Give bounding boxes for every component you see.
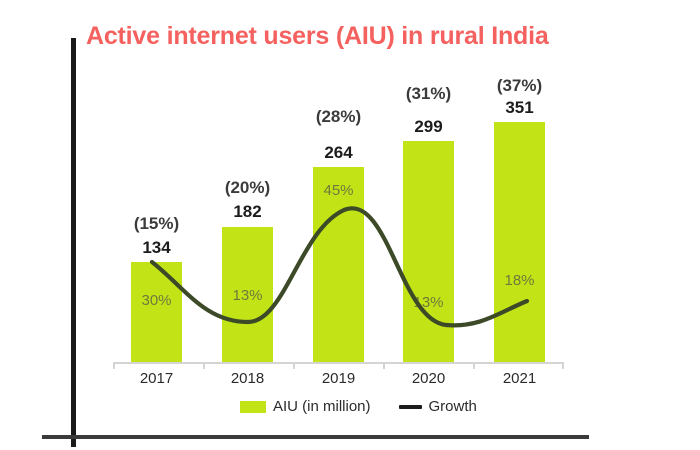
growth-label-2020: 13% [398,294,459,311]
axis-tick-5 [562,362,564,369]
legend-line-swatch-icon [399,405,422,409]
share-label-2017: (15%) [111,214,202,234]
axis-tick-4 [473,362,475,369]
share-label-2019: (28%) [293,107,384,127]
plot-area: (15%) (20%) (28%) (31%) (37%) 134 182 26… [0,0,700,450]
value-label-2018: 182 [202,202,293,222]
chart-figure: Active internet users (AIU) in rural Ind… [0,0,700,450]
xtick-label-2018: 2018 [202,370,293,387]
axis-tick-0 [113,362,115,369]
legend-label-aiu: AIU (in million) [273,398,371,415]
axis-tick-3 [383,362,385,369]
legend-bar-swatch-icon [240,401,266,413]
share-label-2020: (31%) [383,84,474,104]
growth-label-2021: 18% [489,272,550,289]
axis-tick-1 [203,362,205,369]
value-label-2017: 134 [111,238,202,258]
chart-legend: AIU (in million) Growth [240,398,477,415]
axis-tick-2 [293,362,295,369]
value-label-2019: 264 [293,143,384,163]
value-label-2020: 299 [383,117,474,137]
bar-2020 [403,141,454,362]
legend-item-aiu[interactable]: AIU (in million) [240,398,371,415]
growth-label-2018: 13% [217,287,278,304]
share-label-2018: (20%) [202,178,293,198]
xtick-label-2019: 2019 [293,370,384,387]
share-label-2021: (37%) [474,76,565,96]
legend-item-growth[interactable]: Growth [399,398,477,415]
growth-label-2019: 45% [308,182,369,199]
growth-label-2017: 30% [126,292,187,309]
value-label-2021: 351 [474,98,565,118]
xtick-label-2017: 2017 [111,370,202,387]
bar-2017 [131,262,182,362]
category-axis-line [113,362,563,364]
legend-label-growth: Growth [429,398,477,415]
bar-2021 [494,122,545,362]
xtick-label-2020: 2020 [383,370,474,387]
xtick-label-2021: 2021 [474,370,565,387]
